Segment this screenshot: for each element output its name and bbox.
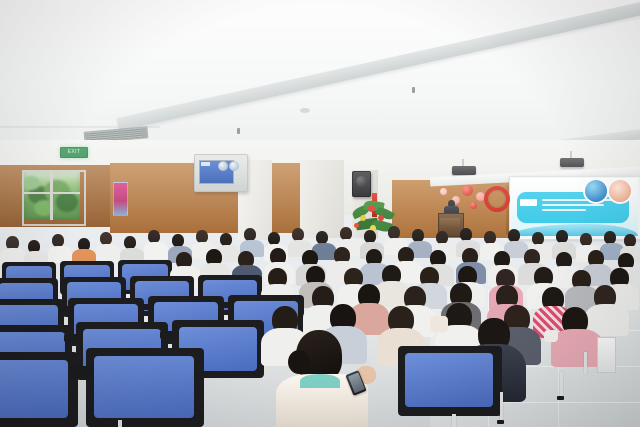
globe-icon (585, 180, 607, 202)
ceiling-projector (560, 158, 584, 167)
monitor-title-bar (201, 162, 210, 166)
auditorium-scene: EXIT (0, 0, 640, 427)
attendee-hair-bun (288, 350, 310, 374)
caring-hands-icon (609, 180, 631, 202)
monitor-icon (218, 161, 228, 171)
sprinkler-head-icon (237, 128, 240, 134)
exit-sign-label: EXIT (68, 150, 81, 155)
attendee-body (96, 244, 120, 261)
wreath-decoration (484, 186, 510, 212)
balloon-decoration (440, 188, 447, 195)
ceiling-beam (117, 0, 640, 131)
slide-heading-tag (520, 199, 537, 206)
seat-leg (500, 392, 503, 422)
ceiling-fixture (300, 108, 310, 113)
lectern-front-panel (440, 218, 460, 228)
handbag (544, 330, 558, 342)
balloon-decoration (462, 185, 473, 196)
projection-screen (511, 178, 638, 236)
waste-bin (597, 337, 616, 373)
ceiling (0, 0, 640, 150)
wall-speaker (352, 171, 371, 197)
wall-poster (113, 182, 128, 216)
seat-foot (497, 420, 504, 424)
ceiling-projector (452, 166, 476, 175)
handbag (430, 316, 448, 332)
exit-sign: EXIT (60, 147, 88, 158)
attendee-body (551, 329, 603, 367)
slide-body-line (542, 204, 604, 206)
slide-wave-decoration (511, 224, 638, 236)
seat-leg (584, 352, 587, 374)
balloon-decoration (470, 202, 477, 209)
seat-leg (560, 372, 563, 398)
attendee-collar (300, 374, 340, 388)
slide-body-line (542, 209, 586, 211)
attendee-body (144, 242, 168, 259)
slide-body-line (542, 199, 620, 201)
window-frame (22, 170, 86, 226)
monitor-icon (229, 161, 239, 171)
sprinkler-head-icon (412, 87, 415, 93)
seat-foot (557, 396, 564, 400)
wall-column (300, 160, 344, 238)
